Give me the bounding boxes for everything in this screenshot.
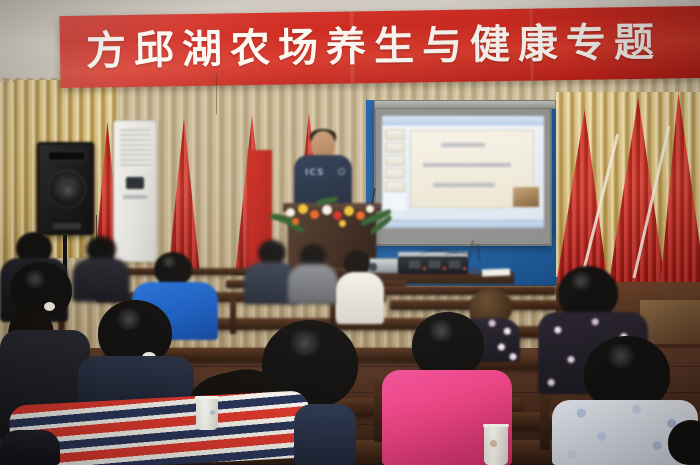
presentation-statusbar — [382, 220, 544, 228]
slide-image-thumb — [512, 186, 540, 208]
banner-tie — [216, 74, 217, 114]
slide-thumbnail-panel — [384, 127, 406, 210]
screen-roller — [374, 100, 556, 109]
conference-hall-photo: 方邱湖农场养生与健康专题 — [0, 0, 700, 465]
paper-cup-left[interactable] — [196, 396, 218, 430]
speaker-stand — [63, 235, 67, 275]
speaker-cable — [96, 215, 97, 267]
projection-screen — [374, 106, 552, 246]
side-curtain-far-left — [0, 82, 16, 282]
banner-title: 方邱湖农场养生与健康专题 — [86, 23, 663, 72]
bench-post — [540, 386, 550, 450]
event-banner: 方邱湖农场养生与健康专题 — [59, 6, 700, 88]
presentation-toolbar — [382, 116, 544, 125]
screen-surface — [382, 116, 544, 228]
floor-step-right — [640, 300, 700, 344]
current-slide — [410, 130, 534, 208]
paper-cup-right[interactable] — [484, 424, 508, 465]
